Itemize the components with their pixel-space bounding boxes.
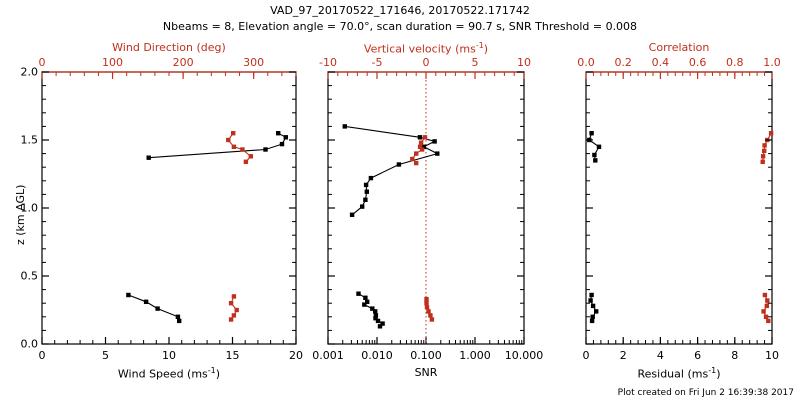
x-tick-label-top: 10 bbox=[517, 56, 531, 69]
y-tick-label: 1.5 bbox=[21, 134, 39, 147]
x-axis-label-top: Wind Direction (deg) bbox=[42, 41, 296, 54]
x-tick-label: 20 bbox=[289, 349, 303, 362]
x-tick-label: 8 bbox=[731, 349, 738, 362]
x-axis-label: SNR bbox=[328, 366, 524, 379]
x-tick-label: 1.000 bbox=[459, 349, 491, 362]
x-tick-label-top: 0.6 bbox=[689, 56, 707, 69]
x-axis-label: Wind Speed (ms-1) bbox=[42, 366, 296, 381]
y-tick-label: 0.0 bbox=[21, 338, 39, 351]
x-axis-label: Residual (ms-1) bbox=[586, 366, 772, 381]
x-tick-label: 0 bbox=[39, 349, 46, 362]
y-tick-label: 1.0 bbox=[21, 202, 39, 215]
x-tick-label: 0.010 bbox=[361, 349, 393, 362]
x-tick-label-top: 0 bbox=[423, 56, 430, 69]
x-tick-label-top: 100 bbox=[102, 56, 123, 69]
x-tick-label-top: 5 bbox=[472, 56, 479, 69]
x-tick-label-top: 0.4 bbox=[652, 56, 670, 69]
x-tick-label: 10 bbox=[765, 349, 779, 362]
y-tick-label: 0.5 bbox=[21, 270, 39, 283]
x-tick-label-top: 1.0 bbox=[763, 56, 781, 69]
x-tick-label-top: 200 bbox=[173, 56, 194, 69]
x-tick-label-top: 0 bbox=[39, 56, 46, 69]
x-tick-label: 4 bbox=[657, 349, 664, 362]
x-tick-label-top: 0.0 bbox=[577, 56, 595, 69]
x-tick-label: 15 bbox=[226, 349, 240, 362]
x-tick-label-top: -5 bbox=[372, 56, 383, 69]
x-tick-label: 0.100 bbox=[410, 349, 442, 362]
x-tick-label: 10 bbox=[162, 349, 176, 362]
x-tick-label: 0.001 bbox=[312, 349, 344, 362]
x-tick-label-top: 0.8 bbox=[726, 56, 744, 69]
x-tick-label: 6 bbox=[694, 349, 701, 362]
x-tick-label-top: -10 bbox=[319, 56, 337, 69]
x-tick-label: 10.000 bbox=[505, 349, 544, 362]
x-tick-label: 2 bbox=[620, 349, 627, 362]
x-axis-label-top: Vertical velocity (ms-1) bbox=[328, 41, 524, 56]
x-tick-label-top: 300 bbox=[243, 56, 264, 69]
y-tick-label: 2.0 bbox=[21, 66, 39, 79]
x-axis-label-top: Correlation bbox=[586, 41, 772, 54]
x-tick-label: 0 bbox=[583, 349, 590, 362]
x-tick-label-top: 0.2 bbox=[614, 56, 632, 69]
x-tick-label: 5 bbox=[102, 349, 109, 362]
creation-timestamp: Plot created on Fri Jun 2 16:39:38 2017 bbox=[618, 388, 794, 398]
